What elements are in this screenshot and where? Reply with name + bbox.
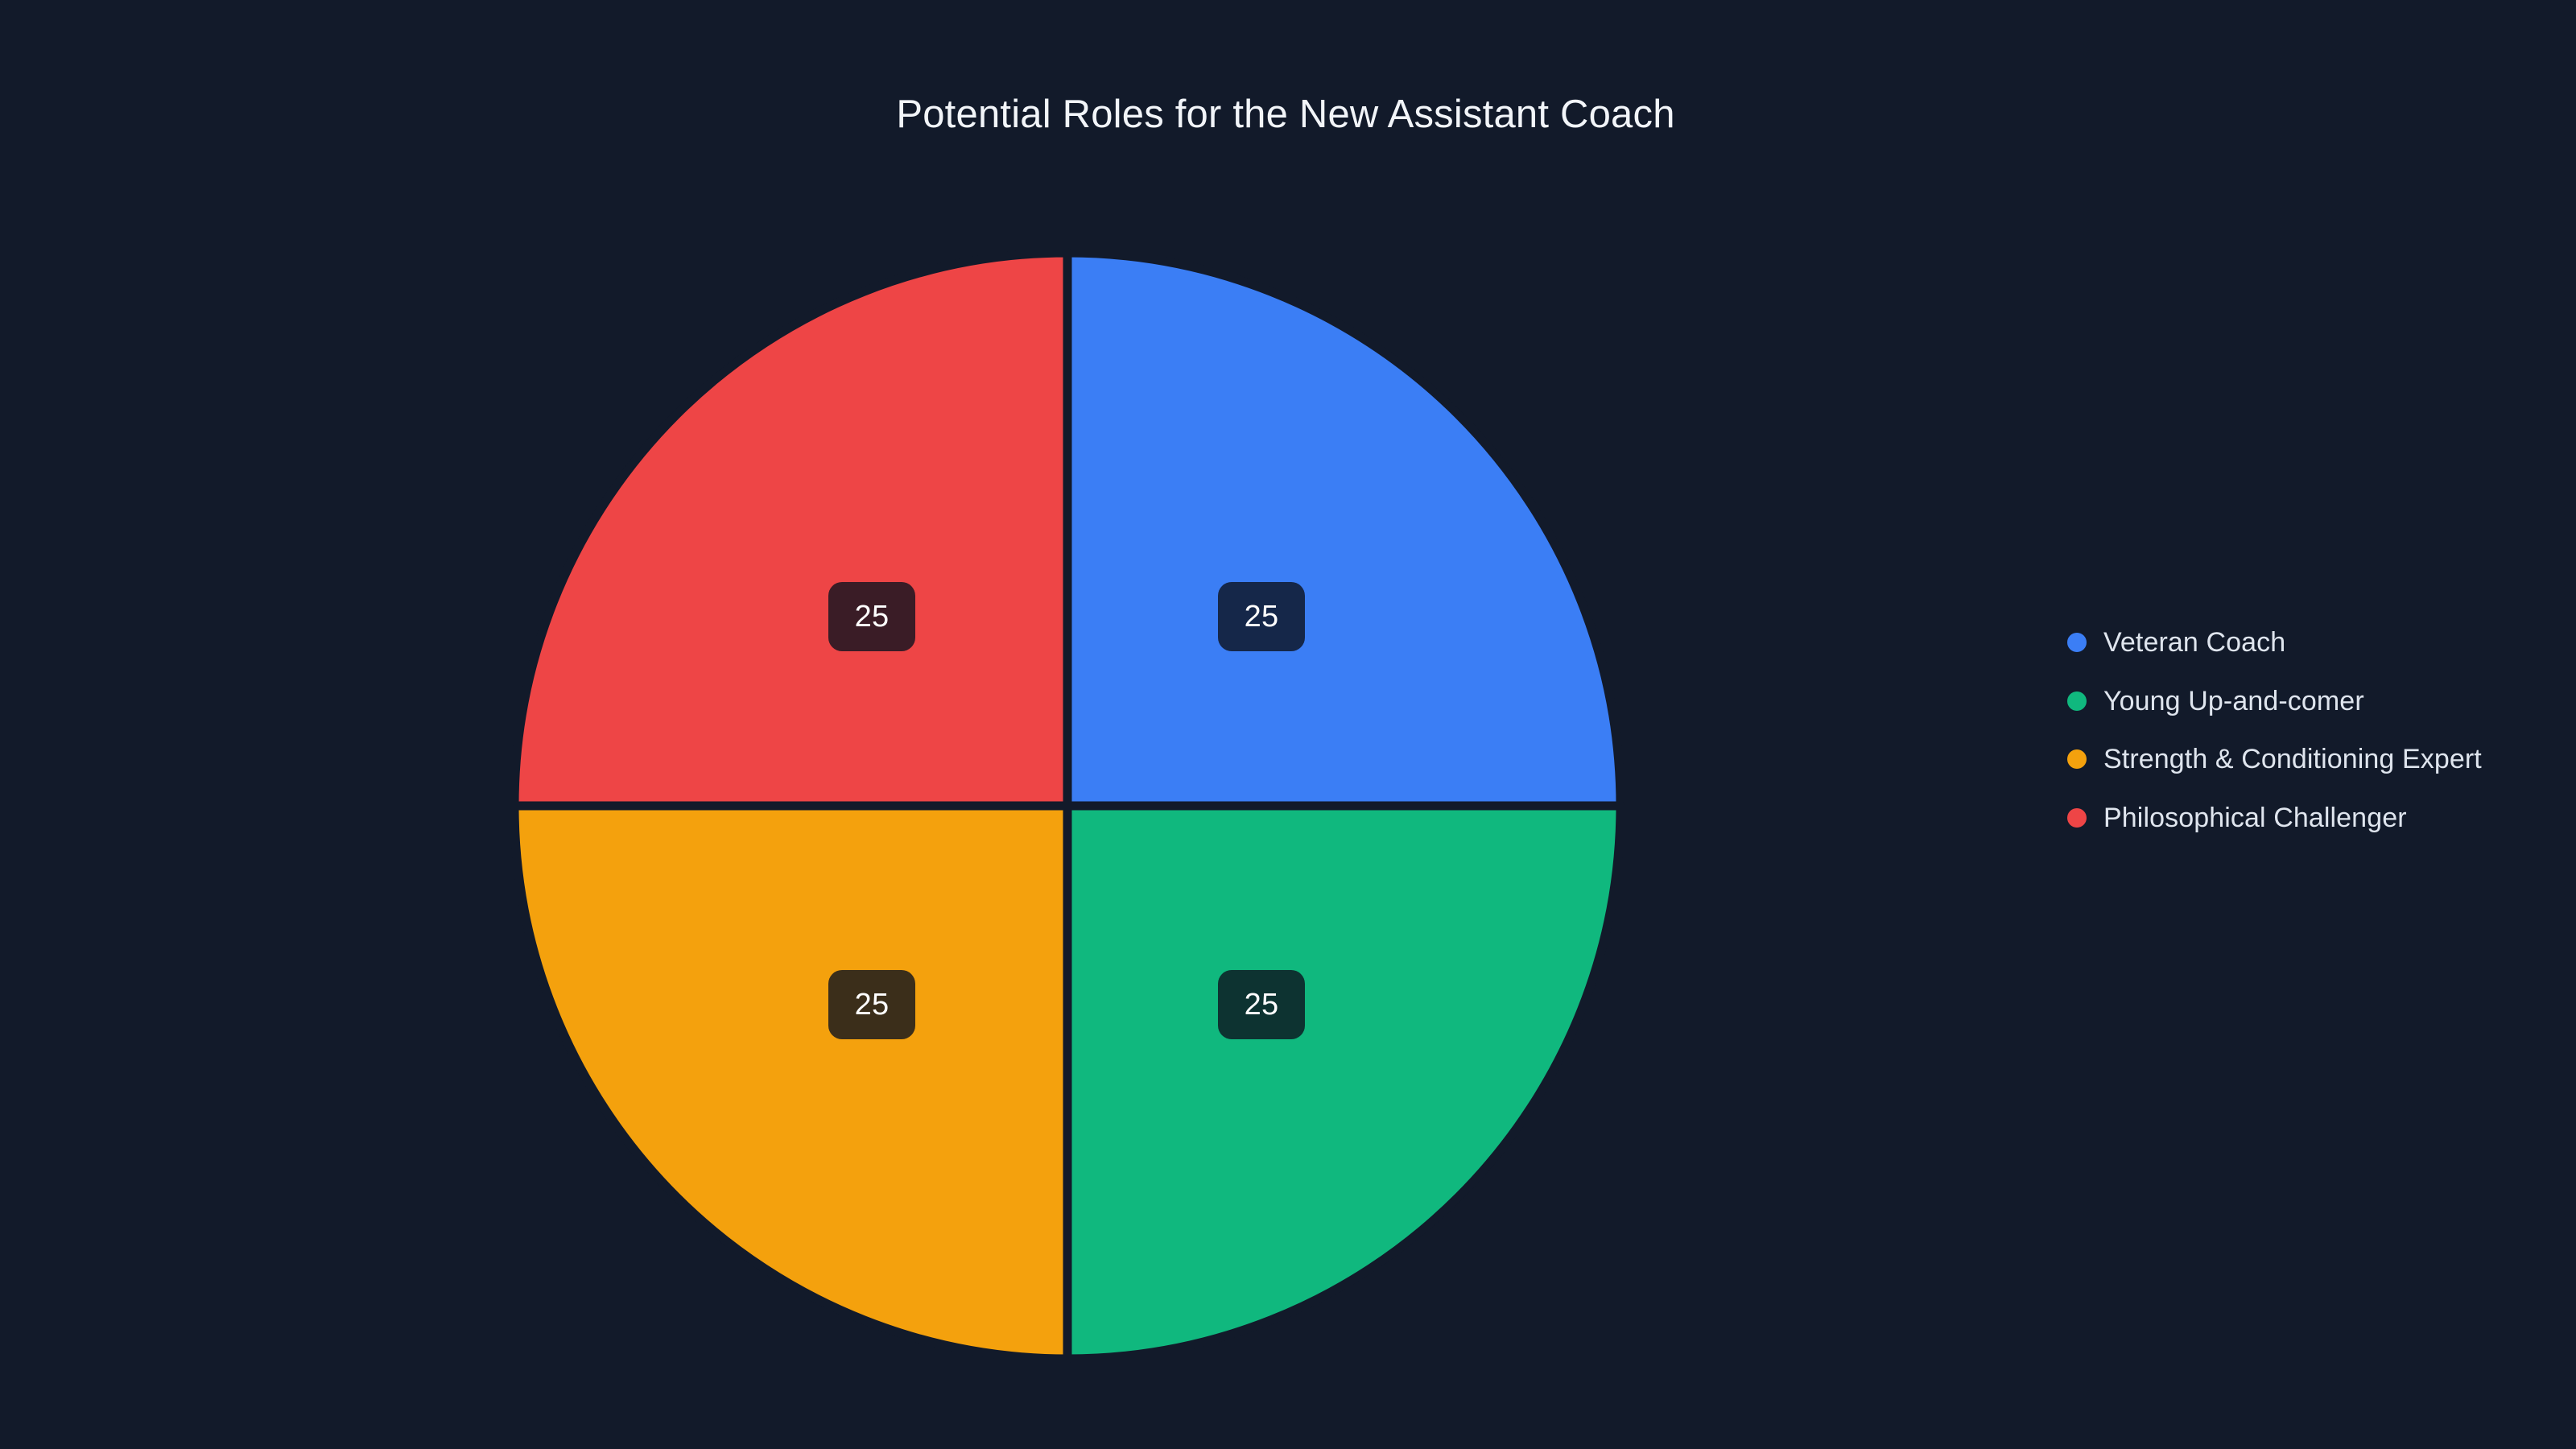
pie-slice-strength-and-conditioning-expert[interactable] (514, 806, 1067, 1359)
legend-swatch-icon (2067, 808, 2087, 828)
legend-item-strength-and-conditioning-expert[interactable]: Strength & Conditioning Expert (2067, 730, 2550, 789)
pie-slice-philosophical-challenger[interactable] (514, 253, 1067, 806)
slice-value-label-veteran-coach: 25 (1218, 582, 1305, 651)
slice-value-label-strength-and-conditioning-expert: 25 (828, 970, 915, 1039)
legend-item-label: Veteran Coach (2103, 629, 2285, 656)
legend-item-philosophical-challenger[interactable]: Philosophical Challenger (2067, 789, 2550, 848)
legend-item-label: Young Up-and-comer (2103, 687, 2364, 715)
legend-item-label: Strength & Conditioning Expert (2103, 745, 2482, 773)
slice-value-label-philosophical-challenger: 25 (828, 582, 915, 651)
pie-slice-young-up-and-comer[interactable] (1067, 806, 1620, 1359)
legend-swatch-icon (2067, 749, 2087, 769)
legend-item-label: Philosophical Challenger (2103, 804, 2407, 832)
legend-item-veteran-coach[interactable]: Veteran Coach (2067, 613, 2550, 672)
legend-swatch-icon (2067, 633, 2087, 652)
slice-value-label-young-up-and-comer: 25 (1218, 970, 1305, 1039)
legend-item-young-up-and-comer[interactable]: Young Up-and-comer (2067, 672, 2550, 731)
chart-figure: Potential Roles for the New Assistant Co… (0, 0, 2576, 1449)
pie-slice-veteran-coach[interactable] (1067, 253, 1620, 806)
legend-swatch-icon (2067, 691, 2087, 711)
chart-legend: Veteran Coach Young Up-and-comer Strengt… (2067, 613, 2550, 847)
